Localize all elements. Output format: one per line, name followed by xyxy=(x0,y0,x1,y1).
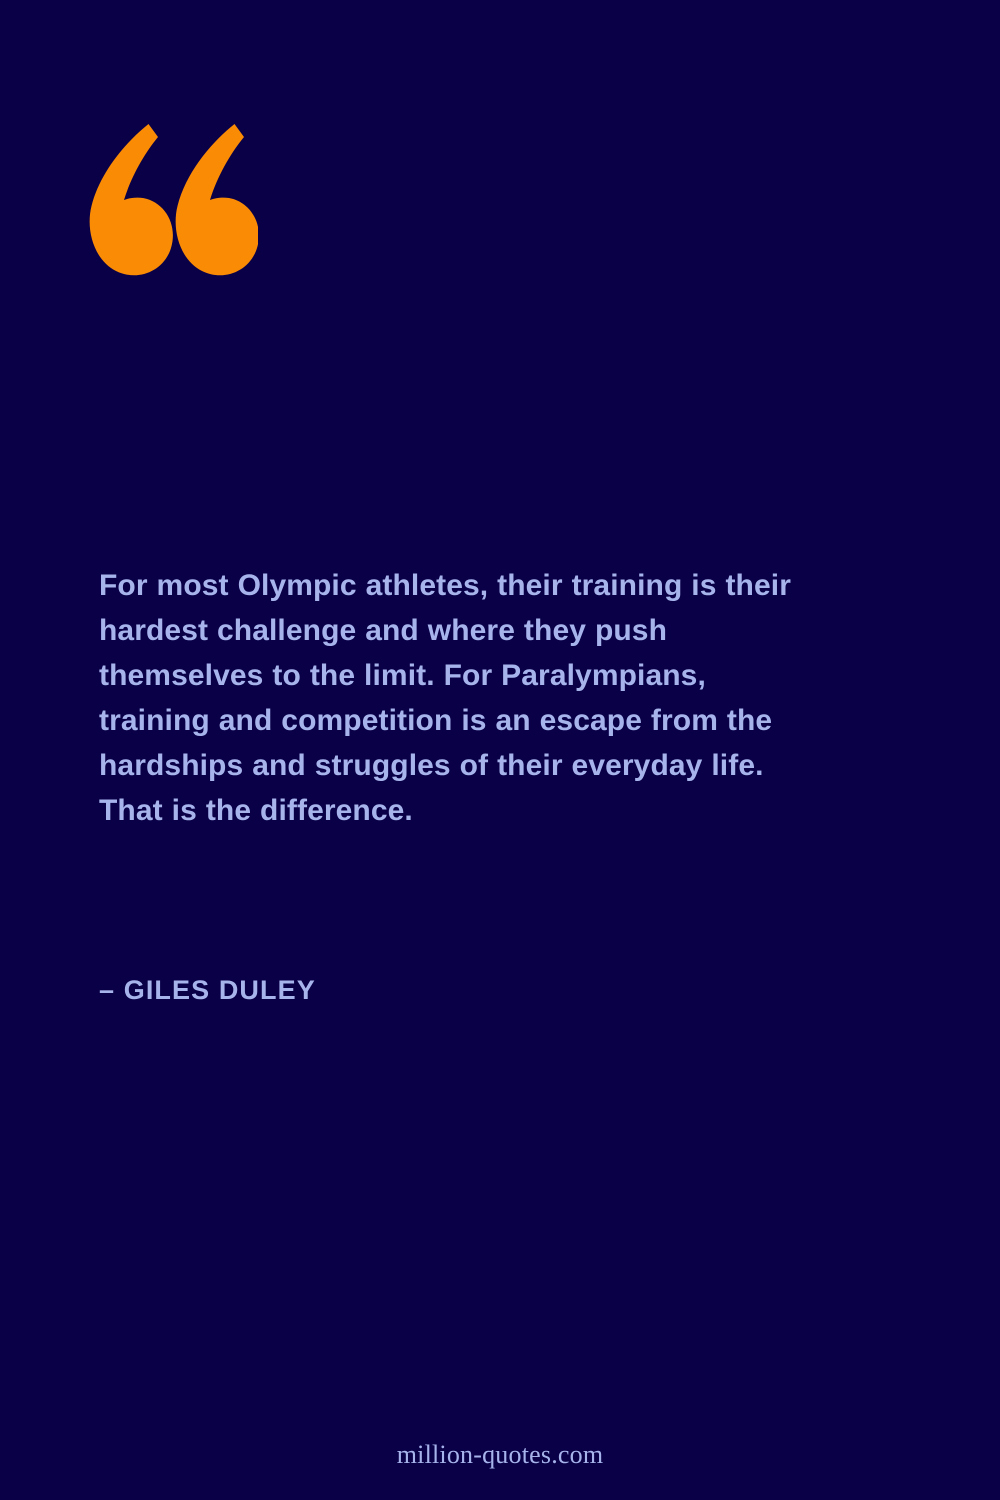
quote-body: For most Olympic athletes, their trainin… xyxy=(99,563,799,833)
site-footer-url: million-quotes.com xyxy=(397,1440,604,1469)
open-quote-icon xyxy=(88,120,258,285)
quote-card: For most Olympic athletes, their trainin… xyxy=(0,0,1000,1500)
site-footer: million-quotes.com xyxy=(0,1440,1000,1470)
quote-text: For most Olympic athletes, their trainin… xyxy=(99,563,799,833)
quote-attribution: – GILES DULEY xyxy=(99,975,316,1006)
